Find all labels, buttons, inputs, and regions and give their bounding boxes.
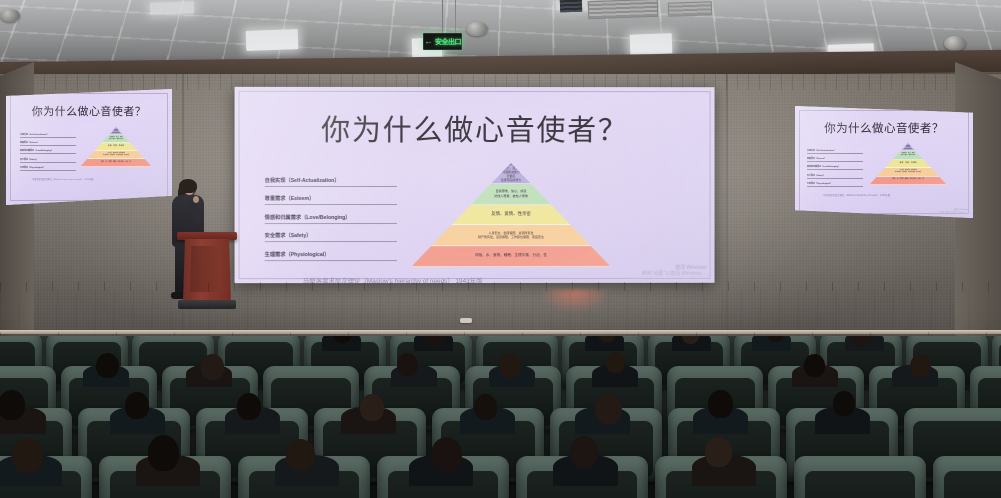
need-label: 情感和归属需求（Love/Belonging） [807,165,863,170]
need-label: 生理需求（Physiological） [20,166,76,171]
ceiling-panel-light [630,33,673,54]
audience-head [96,353,119,378]
audience-head [201,354,224,380]
ceiling-panel-light [246,29,299,51]
windows-watermark: 激活 Windows 转到"设置"以激活 Windows。 [939,209,968,215]
watermark-line-2: 转到"设置"以激活 Windows。 [939,212,968,215]
windows-watermark: 激活 Windows 转到"设置"以激活 Windows。 [642,264,707,278]
audience-head [708,390,733,418]
pyramid-tier-3: 友情、爱情、性亲密 [451,205,571,226]
need-label: 生理需求（Physiological） [265,251,397,261]
pyramid-tier-4: 人身安全、健康保障、资源所有性财产所有性、道德保障、工作职位保障、家庭安全 [877,168,939,176]
exit-sign: ← 安全出口 [423,33,462,50]
seat-row [0,456,1001,498]
need-label: 尊重需求（Esteem） [265,195,397,205]
exit-arrow-icon: ← [424,37,433,46]
pyramid-tier-text: 呼吸、水、食物、睡眠、生理平衡、分泌、性 [475,254,547,258]
audience-head [125,392,148,418]
pyramid-tier-3: 友情、爱情、性亲密 [885,160,932,168]
audience-head [431,437,462,472]
audience-head [0,390,25,420]
pyramid-tier-text: 呼吸、水、食物、睡眠、生理平衡、分泌、性 [892,179,924,181]
slide-content-right: 你为什么做心音使者？ 自我实现（Self-Actualization） 尊重需求… [795,106,973,218]
ac-vent [668,1,712,17]
maslow-pyramid: 道德创造力、自发性问题解决能力无偏见接受现实的能力自我尊重、信心、成就对他人尊重… [80,127,152,167]
slide-caption: 马斯洛需求层次理论（Maslow's hierarchy of needs） 1… [32,177,166,181]
ceiling-speaker [944,36,966,51]
auditorium-seat [238,456,370,498]
slide-title: 你为什么做心音使者？ [241,107,709,149]
slide-body: 自我实现（Self-Actualization） 尊重需求（Esteem） 情感… [241,163,709,269]
sign-hanger-rod [455,0,456,34]
auditorium-scene: ← 安全出口 你为什么做心音使者？ [0,0,1001,498]
pyramid-tier-text: 人身安全、健康保障、资源所有性财产所有性、道德保障、工作职位保障、家庭安全 [478,231,544,239]
needs-label-column: 自我实现（Self-Actualization） 尊重需求（Esteem） 情感… [807,149,863,190]
need-label: 尊重需求（Esteem） [20,141,76,146]
audience-head [570,436,599,468]
audience-head [606,352,625,374]
slide-title: 你为什么做心音使者？ [12,103,166,119]
ac-vent [588,0,659,19]
ceiling-speaker [0,9,20,22]
auditorium-seat [933,456,1001,498]
ac-return-grille [560,0,582,12]
pyramid-tier-5: 呼吸、水、食物、睡眠、生理平衡、分泌、性 [869,177,947,185]
watermark-line-2: 转到"设置"以激活 Windows。 [642,271,707,278]
pyramid-tier-1: 道德创造力、自发性问题解决能力无偏见接受现实的能力 [900,143,916,151]
need-label: 安全需求（Safety） [20,158,76,163]
maslow-pyramid: 道德创造力、自发性问题解决能力无偏见接受现实的能力自我尊重、信心、成就对他人尊重… [411,163,611,267]
pyramid-tier-text: 友情、爱情、性亲密 [491,212,531,216]
audience-head [286,439,315,471]
slide-content-left: 你为什么做心音使者？ 自我实现（Self-Actualization） 尊重需求… [6,89,172,205]
auditorium-seat [99,456,231,498]
pyramid-tier-text: 自我尊重、信心、成就对他人尊重、被他人尊重 [901,153,915,156]
needs-label-column: 自我实现（Self-Actualization） 尊重需求（Esteem） 情感… [20,133,76,174]
podium-top [177,232,237,240]
need-label: 自我实现（Self-Actualization） [20,133,76,138]
pyramid-tier-text: 道德创造力、自发性问题解决能力无偏见接受现实的能力 [501,163,521,183]
pyramid-tier-text: 自我尊重、信心、成就对他人尊重、被他人尊重 [494,189,528,198]
audience-head [397,353,418,376]
audience-head [360,394,384,421]
exit-sign-label: 安全出口 [435,37,461,47]
pyramid-tier-text: 人身安全、健康保障、资源所有性财产所有性、道德保障、工作职位保障、家庭安全 [895,170,921,173]
pyramid-tier-2: 自我尊重、信心、成就对他人尊重、被他人尊重 [892,151,923,159]
need-label: 自我实现（Self-Actualization） [807,149,863,154]
need-label: 安全需求（Safety） [807,174,863,179]
audience-head [499,353,521,378]
need-label: 尊重需求（Esteem） [807,157,863,162]
projection-screen-main: 你为什么做心音使者？ 自我实现（Self-Actualization） 尊重需求… [235,87,715,283]
need-label: 安全需求（Safety） [265,232,397,242]
auditorium-seat [655,456,787,498]
pyramid-tier-text: 道德创造力、自发性问题解决能力无偏见接受现实的能力 [112,127,120,135]
stage-floor-object [460,318,472,323]
audience-head [804,354,825,377]
audience-head [705,437,732,467]
ceiling-panel-light [150,1,194,15]
pyramid-tier-2: 自我尊重、信心、成就对他人尊重、被他人尊重 [471,184,551,205]
audience-seating [0,336,1001,498]
auditorium-seat [794,456,926,498]
audience-head [595,394,622,424]
slide-body: 自我实现（Self-Actualization） 尊重需求（Esteem） 情感… [12,125,166,174]
pyramid-tier-text: 友情、爱情、性亲密 [899,163,916,165]
auditorium-seat [377,456,509,498]
pyramid-tier-3: 友情、爱情、性亲密 [94,143,137,151]
projection-screen-right: 你为什么做心音使者？ 自我实现（Self-Actualization） 尊重需求… [795,106,973,218]
needs-label-column: 自我实现（Self-Actualization） 尊重需求（Esteem） 情感… [265,177,397,269]
pyramid-tier-text: 人身安全、健康保障、资源所有性财产所有性、道德保障、工作职位保障、家庭安全 [103,153,129,156]
audience-head [910,354,931,378]
maslow-pyramid: 道德创造力、自发性问题解决能力无偏见接受现实的能力自我尊重、信心、成就对他人尊重… [869,143,947,185]
slide-caption: 马斯洛需求层次理论（Maslow's hierarchy of needs） 1… [823,193,967,197]
auditorium-seat [516,456,648,498]
audience-head [474,394,497,419]
pyramid-tier-1: 道德创造力、自发性问题解决能力无偏见接受现实的能力 [109,127,123,135]
pyramid-tier-5: 呼吸、水、食物、睡眠、生理平衡、分泌、性 [80,159,152,167]
pyramid-tier-2: 自我尊重、信心、成就对他人尊重、被他人尊重 [102,135,131,143]
audience-head [12,438,43,473]
audience-head [148,435,179,470]
slide-title: 你为什么做心音使者？ [801,120,967,136]
pyramid-tier-text: 自我尊重、信心、成就对他人尊重、被他人尊重 [109,137,123,140]
auditorium-seat [0,456,92,498]
need-label: 生理需求（Physiological） [807,182,863,187]
ceiling-speaker [466,22,488,36]
exit-sign-hanger [442,0,443,33]
need-label: 情感和归属需求（Love/Belonging） [265,214,397,224]
pyramid-tier-text: 友情、爱情、性亲密 [108,146,124,148]
pyramid-tier-text: 道德创造力、自发性问题解决能力无偏见接受现实的能力 [904,143,912,151]
need-label: 情感和归属需求（Love/Belonging） [20,149,76,154]
pyramid-tier-4: 人身安全、健康保障、资源所有性财产所有性、道德保障、工作职位保障、家庭安全 [431,225,591,246]
audience-head [237,393,261,420]
pyramid-tier-5: 呼吸、水、食物、睡眠、生理平衡、分泌、性 [411,246,611,267]
audience-head [833,391,855,416]
need-label: 自我实现（Self-Actualization） [265,177,397,187]
projection-screen-left: 你为什么做心音使者？ 自我实现（Self-Actualization） 尊重需求… [6,89,172,205]
pyramid-tier-1: 道德创造力、自发性问题解决能力无偏见接受现实的能力 [491,163,531,184]
pyramid-tier-4: 人身安全、健康保障、资源所有性财产所有性、道德保障、工作职位保障、家庭安全 [87,151,145,159]
slide-body: 自我实现（Self-Actualization） 尊重需求（Esteem） 情感… [801,142,967,190]
presenter-hand [193,196,199,203]
pyramid-tier-text: 呼吸、水、食物、睡眠、生理平衡、分泌、性 [101,162,131,164]
slide-content-main: 你为什么做心音使者？ 自我实现（Self-Actualization） 尊重需求… [235,87,715,283]
